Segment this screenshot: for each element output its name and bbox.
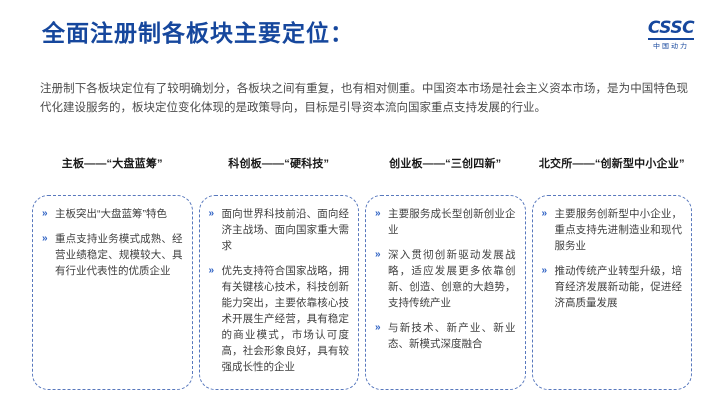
page-title: 全面注册制各板块主要定位： [42,14,354,48]
brand-subtitle-text: 中国动力 [640,43,702,49]
list-item: » 主要服务成长型创新创业企业 [375,206,516,238]
intro-paragraph: 注册制下各板块定位有了较明确划分，各板块之间有重复，也有相对侧重。中国资本市场是… [40,80,688,118]
list-item: » 主要服务创新型中小企业，重点支持先进制造业和现代服务业 [542,206,683,254]
list-item: » 优先支持符合国家战略，拥有关键核心技术，科技创新能力突出，主要依靠核心技术开… [209,263,350,375]
list-item: » 推动传统产业转型升级，培育经济发展新动能，促进经济高质量发展 [542,263,683,311]
chevron-double-right-icon: » [375,206,381,222]
chevron-double-right-icon: » [42,231,48,247]
chevron-double-right-icon: » [375,247,381,263]
chevron-double-right-icon: » [542,263,548,279]
board-positioning-columns: 主板——“大盘蓝筹” » 主板突出“大盘蓝筹”特色 » 重点支持业务模式成熟、经… [32,155,692,390]
bullet-list: » 主要服务创新型中小企业，重点支持先进制造业和现代服务业 » 推动传统产业转型… [542,206,683,311]
list-item: » 主板突出“大盘蓝筹”特色 [42,206,183,222]
list-item: » 与新技术、新产业、新业态、新模式深度融合 [375,320,516,352]
list-item-text: 主板突出“大盘蓝筹”特色 [55,208,167,220]
chevron-double-right-icon: » [209,263,215,279]
column-card: » 主要服务创新型中小企业，重点支持先进制造业和现代服务业 » 推动传统产业转型… [532,195,693,390]
list-item-text: 优先支持符合国家战略，拥有关键核心技术，科技创新能力突出，主要依靠核心技术开展生… [222,265,350,373]
column-main-board: 主板——“大盘蓝筹” » 主板突出“大盘蓝筹”特色 » 重点支持业务模式成熟、经… [32,155,193,390]
list-item-text: 主要服务成长型创新创业企业 [388,208,516,236]
list-item-text: 主要服务创新型中小企业，重点支持先进制造业和现代服务业 [555,208,683,252]
brand-mark-text: CSSC [648,20,694,40]
brand-logo: CSSC 中国动力 [640,20,702,50]
list-item-text: 面向世界科技前沿、面向经济主战场、面向国家重大需求 [222,208,350,252]
list-item-text: 深入贯彻创新驱动发展战略，适应发展更多依靠创新、创造、创意的大趋势，支持传统产业 [388,249,516,309]
chevron-double-right-icon: » [375,320,381,336]
list-item: » 深入贯彻创新驱动发展战略，适应发展更多依靠创新、创造、创意的大趋势，支持传统… [375,247,516,311]
slide-header: 全面注册制各板块主要定位： CSSC 中国动力 [0,0,720,66]
column-chinext: 创业板——“三创四新” » 主要服务成长型创新创业企业 » 深入贯彻创新驱动发展… [365,155,526,390]
list-item-text: 推动传统产业转型升级，培育经济发展新动能，促进经济高质量发展 [555,265,683,309]
column-heading: 科创板——“硬科技” [199,155,360,195]
column-heading: 创业板——“三创四新” [365,155,526,195]
column-heading: 主板——“大盘蓝筹” [32,155,193,195]
column-star-market: 科创板——“硬科技” » 面向世界科技前沿、面向经济主战场、面向国家重大需求 »… [199,155,360,390]
column-heading: 北交所——“创新型中小企业” [532,155,693,195]
column-card: » 主要服务成长型创新创业企业 » 深入贯彻创新驱动发展战略，适应发展更多依靠创… [365,195,526,390]
list-item: » 面向世界科技前沿、面向经济主战场、面向国家重大需求 [209,206,350,254]
column-bse: 北交所——“创新型中小企业” » 主要服务创新型中小企业，重点支持先进制造业和现… [532,155,693,390]
column-card: » 主板突出“大盘蓝筹”特色 » 重点支持业务模式成熟、经营业绩稳定、规模较大、… [32,195,193,390]
bullet-list: » 面向世界科技前沿、面向经济主战场、面向国家重大需求 » 优先支持符合国家战略… [209,206,350,375]
chevron-double-right-icon: » [542,206,548,222]
column-card: » 面向世界科技前沿、面向经济主战场、面向国家重大需求 » 优先支持符合国家战略… [199,195,360,390]
bullet-list: » 主要服务成长型创新创业企业 » 深入贯彻创新驱动发展战略，适应发展更多依靠创… [375,206,516,352]
chevron-double-right-icon: » [42,206,48,222]
list-item-text: 重点支持业务模式成熟、经营业绩稳定、规模较大、具有行业代表性的优质企业 [55,233,183,277]
list-item: » 重点支持业务模式成熟、经营业绩稳定、规模较大、具有行业代表性的优质企业 [42,231,183,279]
chevron-double-right-icon: » [209,206,215,222]
list-item-text: 与新技术、新产业、新业态、新模式深度融合 [388,322,516,350]
bullet-list: » 主板突出“大盘蓝筹”特色 » 重点支持业务模式成熟、经营业绩稳定、规模较大、… [42,206,183,279]
